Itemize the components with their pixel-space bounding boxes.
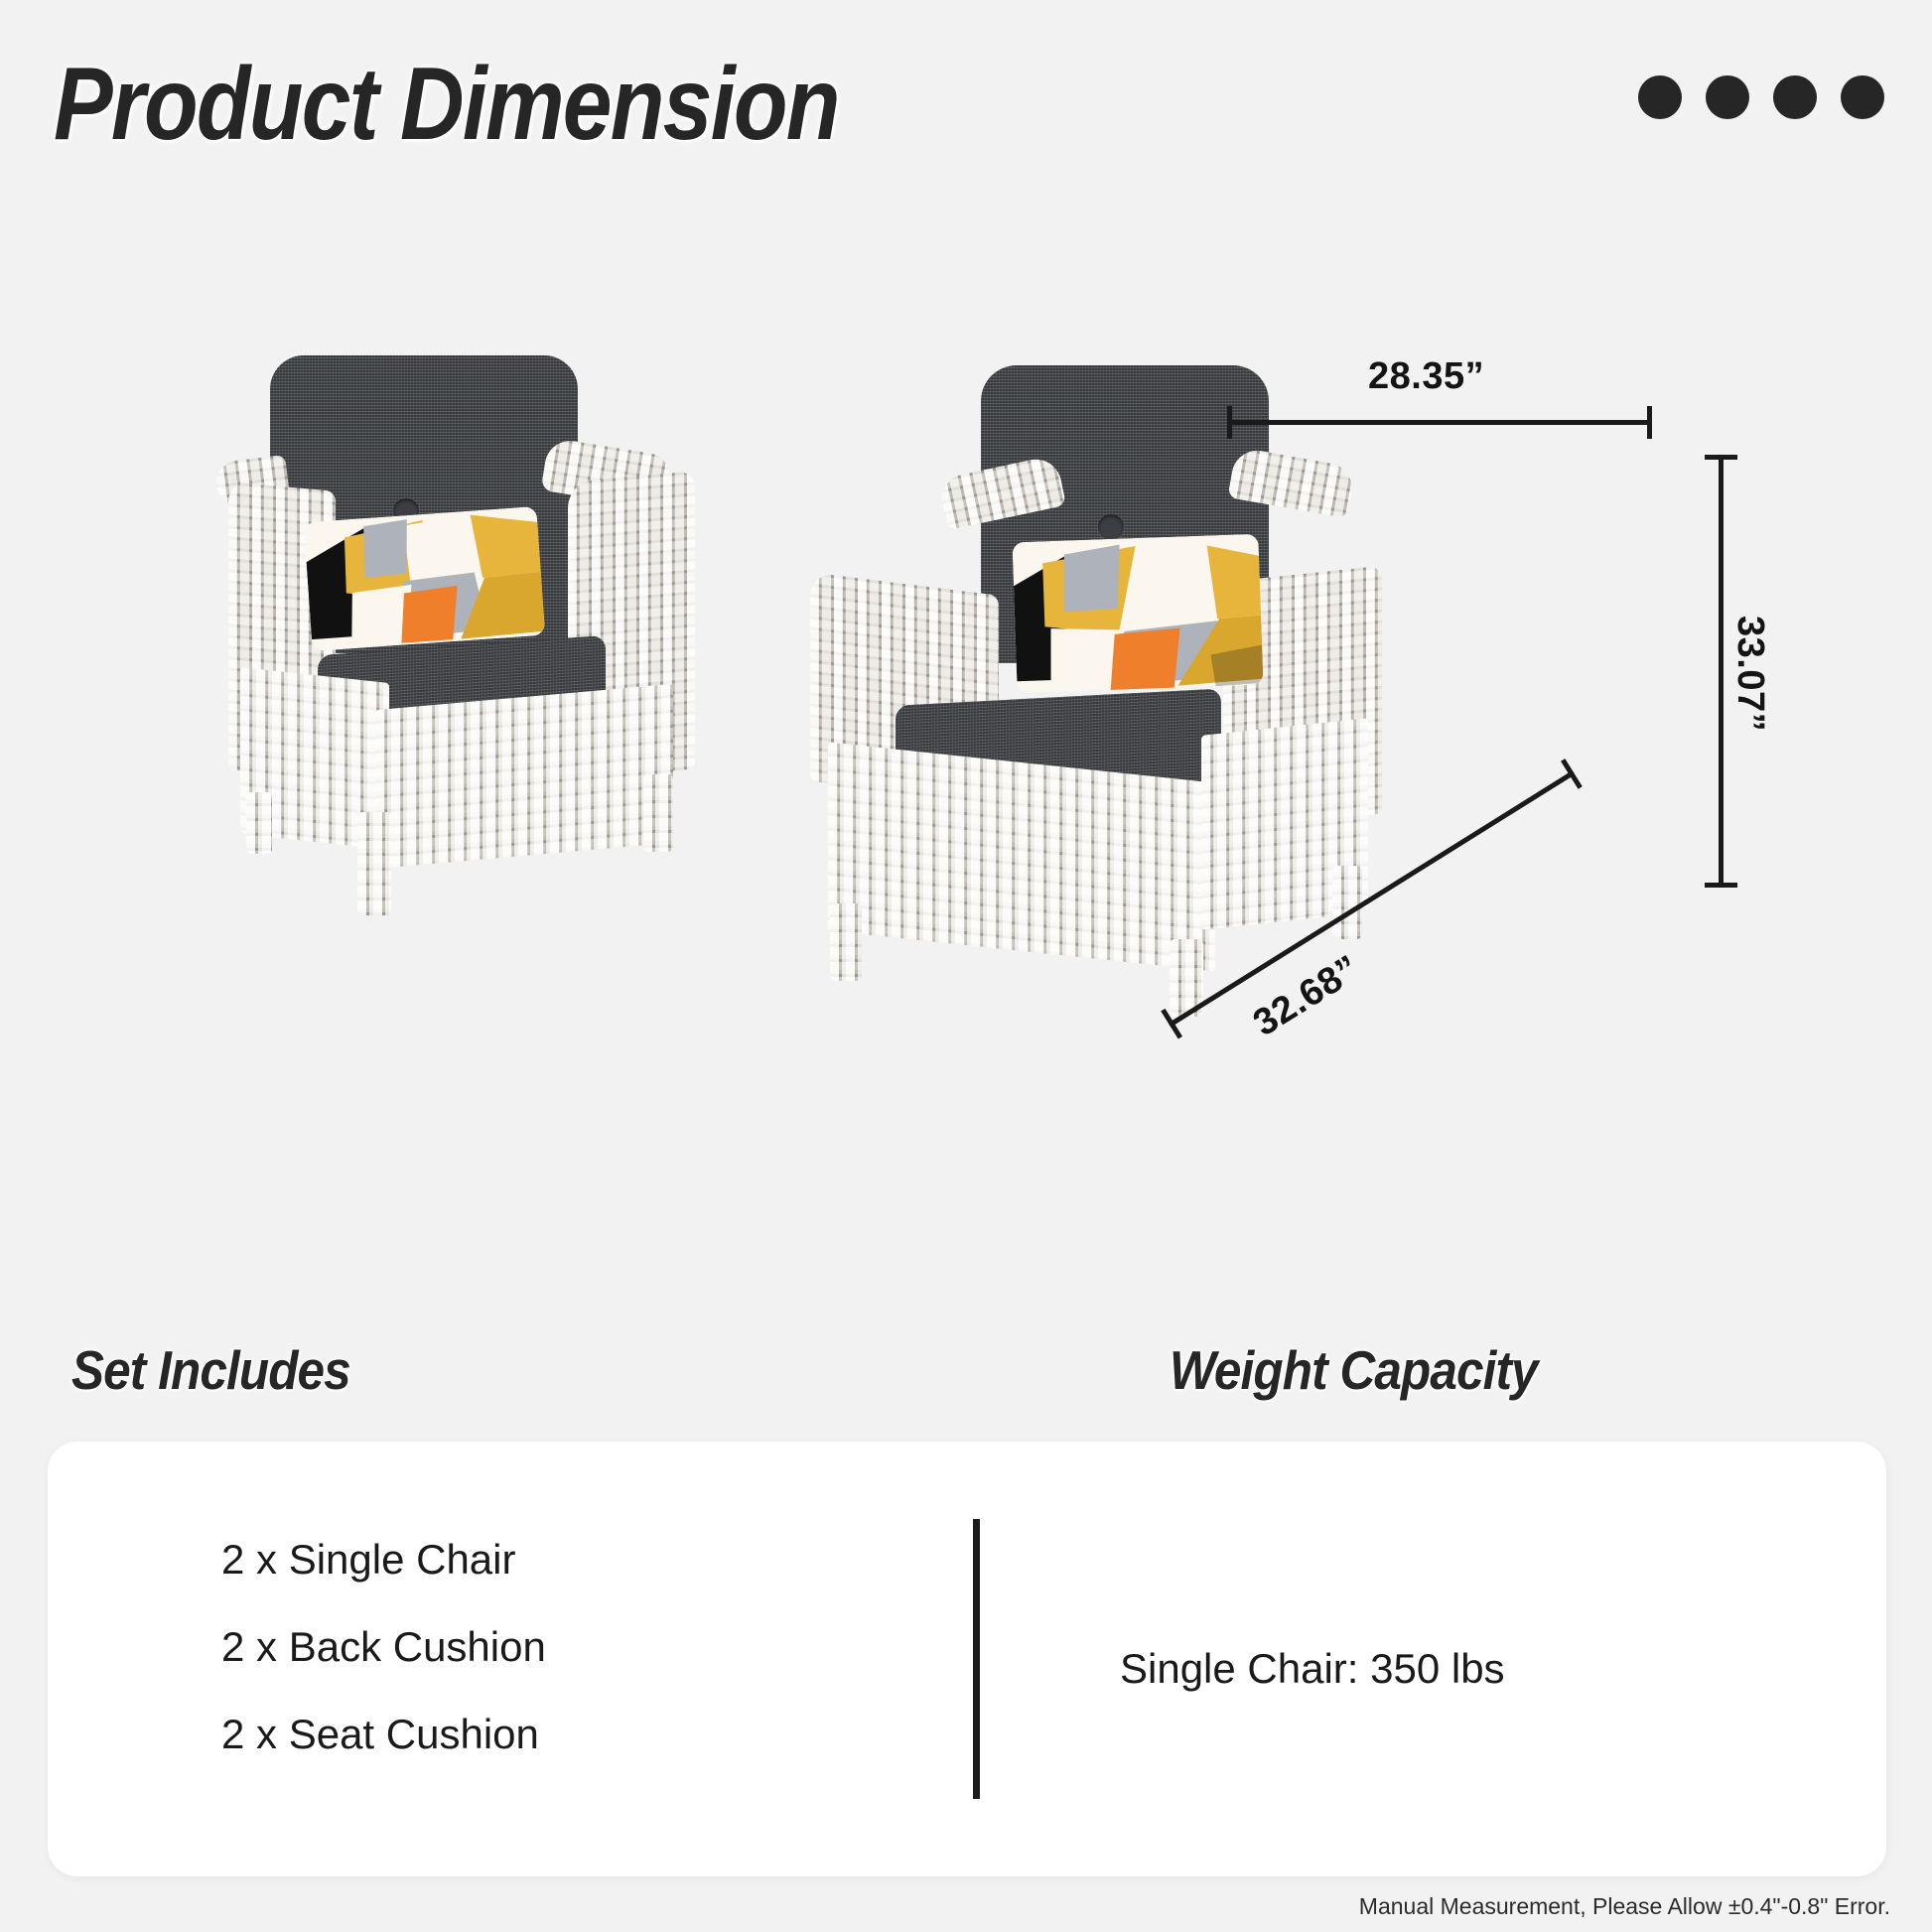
base-panel-front [828, 743, 1215, 972]
dimension-line-height [1719, 455, 1724, 888]
measurement-footnote: Manual Measurement, Please Allow ±0.4"-0… [1359, 1893, 1890, 1920]
dimension-line-width [1227, 420, 1652, 425]
dot-icon [1773, 75, 1817, 119]
leg-right [643, 774, 673, 852]
set-includes-heading: Set Includes [71, 1338, 350, 1402]
chair-left-image [199, 347, 735, 953]
decorative-dots-group [1638, 75, 1884, 119]
dot-icon [1706, 75, 1749, 119]
list-item: 2 x Single Chair [221, 1536, 546, 1584]
details-card: 2 x Single Chair 2 x Back Cushion 2 x Se… [48, 1442, 1886, 1876]
dot-icon [1638, 75, 1682, 119]
chair-right-image [764, 347, 1360, 1003]
list-item: 2 x Back Cushion [221, 1623, 546, 1671]
leg-front-left [830, 903, 862, 981]
set-includes-list: 2 x Single Chair 2 x Back Cushion 2 x Se… [221, 1536, 546, 1758]
list-item: 2 x Seat Cushion [221, 1711, 546, 1758]
card-divider [973, 1519, 980, 1799]
throw-pillow [1012, 534, 1263, 694]
leg-center [357, 812, 391, 915]
weight-capacity-value: Single Chair: 350 lbs [1120, 1645, 1505, 1693]
cushion-button [1098, 514, 1124, 540]
leg-front-left [246, 792, 272, 854]
product-dimension-infographic: Product Dimension [0, 0, 1932, 1932]
leg-back-right [1332, 866, 1362, 939]
weight-capacity-heading: Weight Capacity [1170, 1338, 1538, 1402]
dimension-label-height: 33.07” [1728, 616, 1771, 732]
product-illustration-area: 28.35” 33.07” 32.68” [0, 298, 1932, 1291]
throw-pillow [304, 506, 545, 651]
base-panel-front [375, 684, 673, 869]
page-title: Product Dimension [54, 46, 839, 164]
dot-icon [1841, 75, 1884, 119]
dimension-label-width: 28.35” [1368, 355, 1484, 398]
